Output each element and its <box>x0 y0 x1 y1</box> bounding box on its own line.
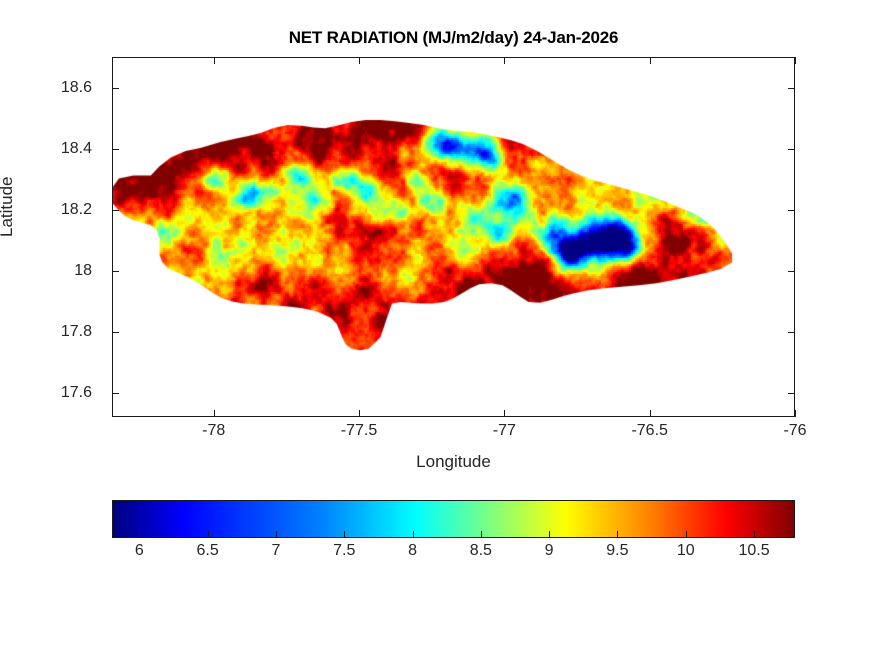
colorbar-tick-mark <box>686 531 687 538</box>
colorbar-tick-label: 9.5 <box>606 542 628 560</box>
colorbar-tick-label: 10.5 <box>738 542 769 560</box>
y-tick-label: 17.6 <box>61 384 92 402</box>
y-tick-mark <box>112 149 119 150</box>
y-tick-mark <box>112 393 119 394</box>
y-tick-mark <box>788 149 795 150</box>
y-tick-mark <box>112 210 119 211</box>
colorbar-tick-mark <box>549 531 550 538</box>
x-tick-mark <box>214 410 215 417</box>
colorbar-tick-mark <box>617 531 618 538</box>
colorbar-tick-mark <box>413 531 414 538</box>
colorbar-tick-label: 8.5 <box>470 542 492 560</box>
net-radiation-heatmap <box>113 58 795 417</box>
x-tick-mark <box>795 57 796 64</box>
x-tick-label: -77 <box>493 422 516 440</box>
colorbar-tick-label: 7 <box>271 542 280 560</box>
x-tick-mark <box>795 410 796 417</box>
x-tick-label: -76.5 <box>631 422 667 440</box>
colorbar[interactable]: 66.577.588.599.51010.5 <box>112 500 795 538</box>
colorbar-tick-label: 6 <box>135 542 144 560</box>
colorbar-tick-label: 10 <box>677 542 695 560</box>
y-tick-label: 18.6 <box>61 79 92 97</box>
y-tick-mark <box>788 210 795 211</box>
x-tick-mark <box>504 57 505 64</box>
y-tick-label: 17.8 <box>61 323 92 341</box>
x-axis-label: Longitude <box>112 452 795 472</box>
y-tick-mark <box>788 88 795 89</box>
colorbar-gradient <box>112 500 795 538</box>
colorbar-tick-mark <box>754 531 755 538</box>
y-tick-mark <box>112 88 119 89</box>
map-axes[interactable] <box>112 57 795 417</box>
y-tick-mark <box>788 393 795 394</box>
colorbar-tick-label: 9 <box>545 542 554 560</box>
y-tick-label: 18.4 <box>61 140 92 158</box>
page-title: NET RADIATION (MJ/m2/day) 24-Jan-2026 <box>112 28 795 48</box>
colorbar-tick-mark <box>139 531 140 538</box>
colorbar-tick-label: 7.5 <box>333 542 355 560</box>
x-tick-mark <box>359 57 360 64</box>
y-tick-label: 18.2 <box>61 201 92 219</box>
x-tick-mark <box>359 410 360 417</box>
x-tick-mark <box>650 57 651 64</box>
colorbar-tick-mark <box>481 531 482 538</box>
colorbar-tick-label: 6.5 <box>196 542 218 560</box>
figure-canvas: NET RADIATION (MJ/m2/day) 24-Jan-2026 18… <box>0 0 875 656</box>
x-tick-label: -76 <box>783 422 806 440</box>
y-axis-label: Latitude <box>0 177 17 238</box>
x-tick-label: -77.5 <box>341 422 377 440</box>
x-tick-mark <box>214 57 215 64</box>
y-tick-label: 18 <box>74 262 92 280</box>
x-tick-label: -78 <box>202 422 225 440</box>
x-tick-mark <box>650 410 651 417</box>
y-tick-mark <box>112 271 119 272</box>
colorbar-tick-mark <box>344 531 345 538</box>
colorbar-tick-label: 8 <box>408 542 417 560</box>
colorbar-tick-mark <box>276 531 277 538</box>
x-tick-mark <box>504 410 505 417</box>
y-tick-mark <box>788 271 795 272</box>
y-tick-mark <box>788 332 795 333</box>
colorbar-tick-mark <box>208 531 209 538</box>
y-tick-mark <box>112 332 119 333</box>
